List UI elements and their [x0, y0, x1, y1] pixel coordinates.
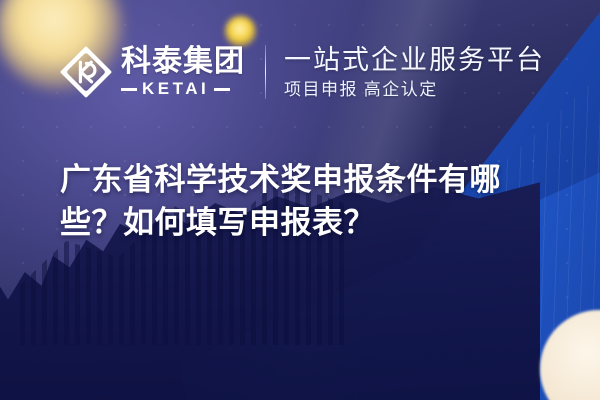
ketai-diamond-kd-monogram-icon [58, 44, 114, 100]
tagline-block: 一站式企业服务平台 项目申报 高企认定 [284, 45, 545, 99]
brand-wordmark: 科泰集团 KETAI [121, 46, 245, 98]
tagline-sub: 项目申报 高企认定 [284, 80, 545, 99]
brand-name-cn: 科泰集团 [121, 46, 245, 78]
brand-logo: 科泰集团 KETAI [58, 44, 245, 100]
banner-header: 科泰集团 KETAI 一站式企业服务平台 项目申报 高企认定 [58, 44, 545, 100]
promo-banner: 科泰集团 KETAI 一站式企业服务平台 项目申报 高企认定 广东省科学技术奖申… [0, 0, 600, 400]
page-title: 广东省科学技术奖申报条件有哪些？如何填写申报表？ [60, 158, 560, 244]
dash-left-icon [121, 88, 137, 91]
brand-name-en: KETAI [142, 80, 209, 98]
tagline-main: 一站式企业服务平台 [284, 45, 545, 75]
dash-right-icon [214, 88, 230, 91]
vertical-divider [265, 45, 266, 99]
brand-name-en-row: KETAI [121, 80, 245, 98]
gold-dot-icon [225, 16, 256, 47]
